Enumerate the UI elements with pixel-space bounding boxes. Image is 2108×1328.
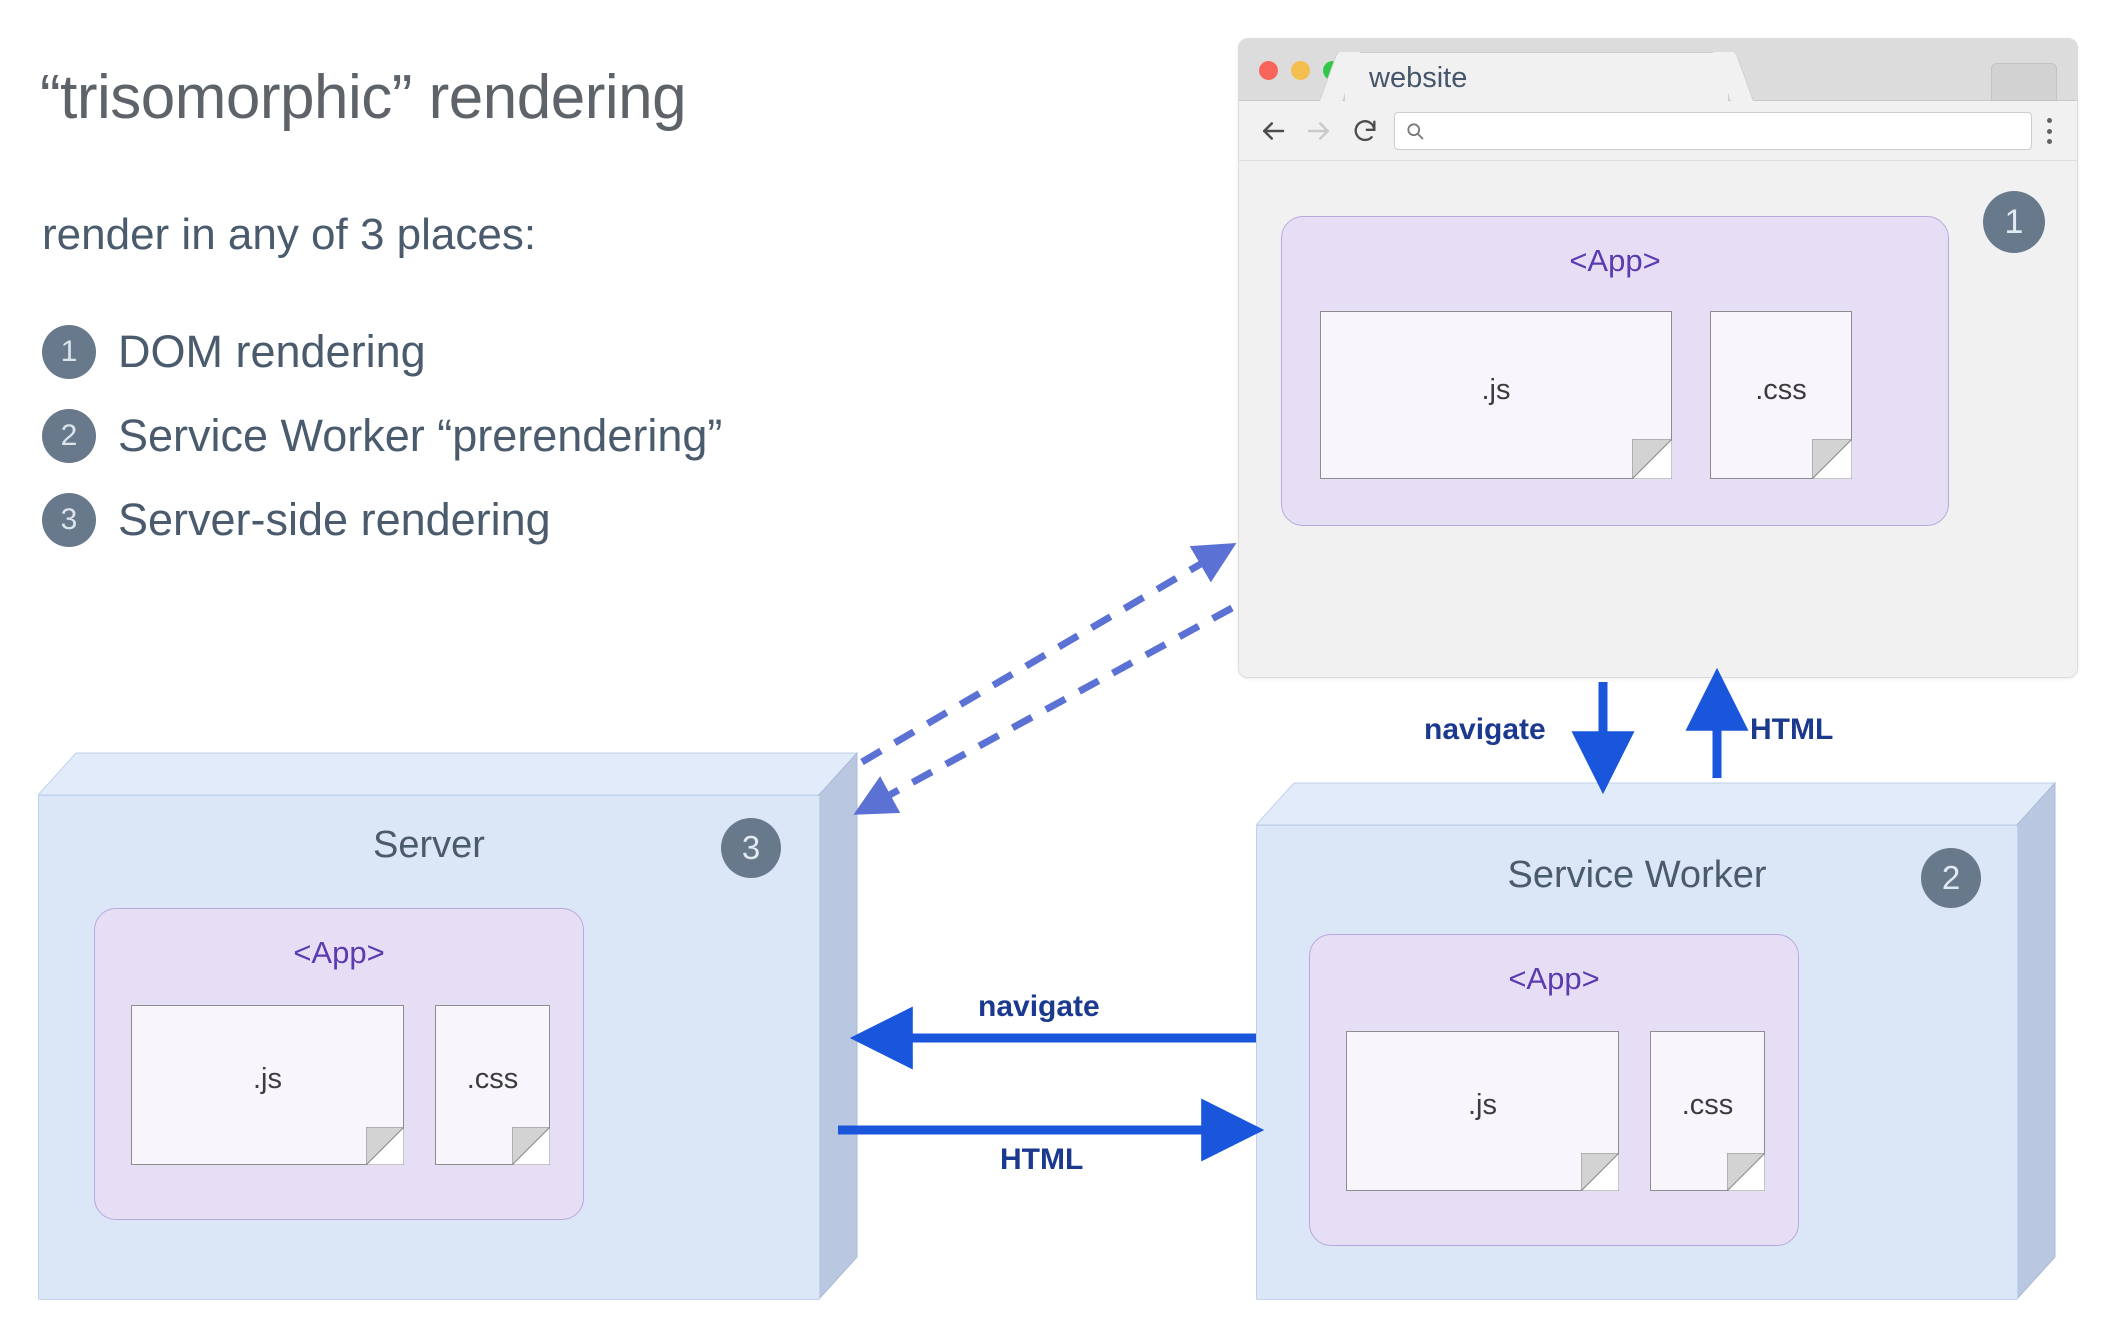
server-title: Server (39, 824, 819, 867)
close-window-icon[interactable] (1259, 61, 1278, 80)
server-app-box: <App> .js .css (94, 908, 584, 1220)
browser-file-js: .js (1320, 311, 1672, 479)
browser-tab-placeholder (1991, 63, 2057, 101)
server-app-title: <App> (95, 935, 583, 971)
label-html-server-to-sw: HTML (1000, 1143, 1083, 1177)
search-icon (1405, 121, 1425, 141)
page-title: “trisomorphic” rendering (40, 62, 1040, 133)
browser-file-js-label: .js (1321, 374, 1671, 407)
option-badge-2: 2 (42, 409, 96, 463)
service-worker-title: Service Worker (1257, 854, 2017, 897)
sw-file-js-label: .js (1347, 1089, 1618, 1122)
page-fold-icon (1632, 439, 1672, 479)
subtitle: render in any of 3 places: (42, 210, 536, 260)
sw-app-title: <App> (1310, 961, 1798, 997)
label-navigate-sw-to-server: navigate (978, 990, 1100, 1024)
browser-app-box: <App> .js .css (1281, 216, 1949, 526)
diagram-canvas: “trisomorphic” rendering render in any o… (0, 0, 2108, 1328)
sw-box-side-face (2012, 782, 2056, 1300)
browser-file-css: .css (1710, 311, 1852, 479)
title-block: “trisomorphic” rendering (40, 62, 1040, 133)
sw-app-box: <App> .js .css (1309, 934, 1799, 1246)
forward-arrow-icon[interactable] (1301, 113, 1337, 149)
server-file-css-label: .css (436, 1063, 549, 1096)
browser-titlebar: website (1239, 39, 2077, 101)
sw-file-css-label: .css (1651, 1089, 1764, 1122)
sw-box-front-face: Service Worker 2 <App> .js .css (1256, 825, 2018, 1300)
browser-step-badge: 1 (1983, 191, 2045, 253)
label-navigate-browser-to-sw: navigate (1424, 713, 1546, 747)
server-file-js: .js (131, 1005, 404, 1165)
reload-icon[interactable] (1347, 113, 1383, 149)
service-worker-step-badge: 2 (1921, 848, 1981, 908)
menu-dot (2047, 129, 2052, 134)
minimize-window-icon[interactable] (1291, 61, 1310, 80)
page-fold-icon (1727, 1153, 1765, 1191)
browser-app-title: <App> (1282, 243, 1948, 279)
browser-tab-label: website (1369, 62, 1467, 95)
browser-tab[interactable]: website (1344, 52, 1729, 101)
server-file-css: .css (435, 1005, 550, 1165)
option-row-1: 1 DOM rendering (42, 310, 722, 394)
page-fold-icon (512, 1127, 550, 1165)
server-file-js-label: .js (132, 1063, 403, 1096)
sw-box-top-face (1256, 782, 2056, 826)
option-row-2: 2 Service Worker “prerendering” (42, 394, 722, 478)
kebab-menu-icon[interactable] (2035, 114, 2063, 148)
browser-toolbar (1239, 101, 2077, 161)
page-fold-icon (1812, 439, 1852, 479)
browser-file-css-label: .css (1711, 374, 1851, 407)
server-box-top-face (38, 752, 858, 796)
option-badge-3: 3 (42, 493, 96, 547)
navigation-buttons (1255, 113, 1383, 149)
option-label-1: DOM rendering (118, 326, 426, 378)
address-bar-input[interactable] (1425, 120, 2031, 143)
server-box-front-face: Server 3 <App> .js .css (38, 795, 820, 1300)
server-step-badge: 3 (721, 818, 781, 878)
option-label-2: Service Worker “prerendering” (118, 410, 722, 462)
menu-dot (2047, 118, 2052, 123)
server-box-side-face (814, 752, 858, 1300)
sw-file-css: .css (1650, 1031, 1765, 1191)
dashed-arrow-to-server (862, 608, 1232, 810)
address-bar[interactable] (1394, 112, 2032, 150)
option-row-3: 3 Server-side rendering (42, 478, 722, 562)
label-html-sw-to-browser: HTML (1750, 713, 1833, 747)
service-worker-box: Service Worker 2 <App> .js .css (1256, 782, 2056, 1300)
page-fold-icon (366, 1127, 404, 1165)
dashed-arrow-to-browser (862, 548, 1228, 762)
browser-window: website (1238, 38, 2078, 678)
page-fold-icon (1581, 1153, 1619, 1191)
option-badge-1: 1 (42, 325, 96, 379)
option-label-3: Server-side rendering (118, 494, 551, 546)
sw-file-js: .js (1346, 1031, 1619, 1191)
menu-dot (2047, 139, 2052, 144)
options-list: 1 DOM rendering 2 Service Worker “preren… (42, 310, 722, 562)
server-box: Server 3 <App> .js .css (38, 752, 858, 1300)
browser-viewport: 1 <App> .js .css (1239, 161, 2077, 678)
back-arrow-icon[interactable] (1255, 113, 1291, 149)
